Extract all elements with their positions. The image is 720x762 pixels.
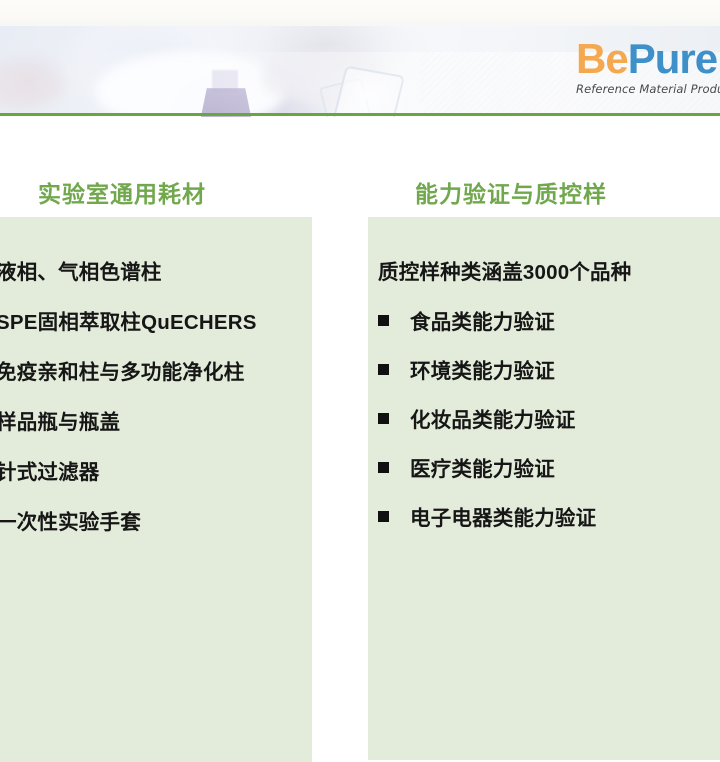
list-item: 针式过滤器 <box>0 455 100 485</box>
list-item: 样品瓶与瓶盖 <box>0 405 120 435</box>
list-item: 质控样种类涵盖3000个品种 <box>378 255 631 285</box>
logo-pure-text: Pure <box>628 35 717 82</box>
list-item: 化妆品类能力验证 <box>378 403 576 433</box>
list-item: 免疫亲和柱与多功能净化柱 <box>0 355 244 385</box>
list-item-label: 医疗类能力验证 <box>410 452 555 482</box>
list-item: SPE固相萃取柱QuECHERS <box>0 305 257 335</box>
list-item-label: 环境类能力验证 <box>410 354 555 384</box>
list-item: 环境类能力验证 <box>378 354 555 384</box>
logo-tagline: Reference Material Produce <box>576 84 720 96</box>
list-lab-consumables: 液相、气相色谱柱 SPE固相萃取柱QuECHERS 免疫亲和柱与多功能净化柱 样… <box>0 217 312 762</box>
panel-proficiency-testing: 质控样种类涵盖3000个品种 食品类能力验证 环境类能力验证 化妆品类能力验证 … <box>368 217 720 760</box>
list-item-label: 液相、气相色谱柱 <box>0 255 162 285</box>
square-bullet-icon <box>378 315 389 326</box>
list-proficiency-testing: 质控样种类涵盖3000个品种 食品类能力验证 环境类能力验证 化妆品类能力验证 … <box>368 217 720 760</box>
list-item-label: 电子电器类能力验证 <box>410 501 596 531</box>
square-bullet-icon <box>378 364 389 375</box>
list-item: 液相、气相色谱柱 <box>0 255 162 285</box>
column-title-lab-consumables: 实验室通用耗材 <box>38 175 206 209</box>
list-item-label: 样品瓶与瓶盖 <box>0 405 120 435</box>
bepure-logo: BePure Reference Material Produce <box>576 38 720 96</box>
square-bullet-icon <box>378 511 389 522</box>
list-item-label: 化妆品类能力验证 <box>410 403 576 433</box>
list-item-label: 一次性实验手套 <box>0 505 141 535</box>
square-bullet-icon <box>378 462 389 473</box>
banner-green-divider <box>0 113 720 116</box>
column-title-proficiency-testing: 能力验证与质控样 <box>415 175 607 209</box>
content-columns: 实验室通用耗材 液相、气相色谱柱 SPE固相萃取柱QuECHERS 免疫亲和柱与… <box>0 117 720 720</box>
list-item-label: SPE固相萃取柱QuECHERS <box>0 305 257 335</box>
banner-top-strip <box>0 0 720 27</box>
panel-lab-consumables: 液相、气相色谱柱 SPE固相萃取柱QuECHERS 免疫亲和柱与多功能净化柱 样… <box>0 217 312 762</box>
list-item: 电子电器类能力验证 <box>378 501 596 531</box>
header-banner: BePure Reference Material Produce <box>0 0 720 117</box>
list-item: 一次性实验手套 <box>0 505 141 535</box>
list-item-label: 食品类能力验证 <box>410 305 555 335</box>
logo-wordmark: BePure <box>576 38 720 80</box>
list-item: 食品类能力验证 <box>378 305 555 335</box>
square-bullet-icon <box>378 413 389 424</box>
list-item-label: 免疫亲和柱与多功能净化柱 <box>0 355 244 385</box>
list-item-label: 针式过滤器 <box>0 455 100 485</box>
logo-be-text: Be <box>576 35 628 82</box>
list-item: 医疗类能力验证 <box>378 452 555 482</box>
list-item-label: 质控样种类涵盖3000个品种 <box>378 255 631 285</box>
